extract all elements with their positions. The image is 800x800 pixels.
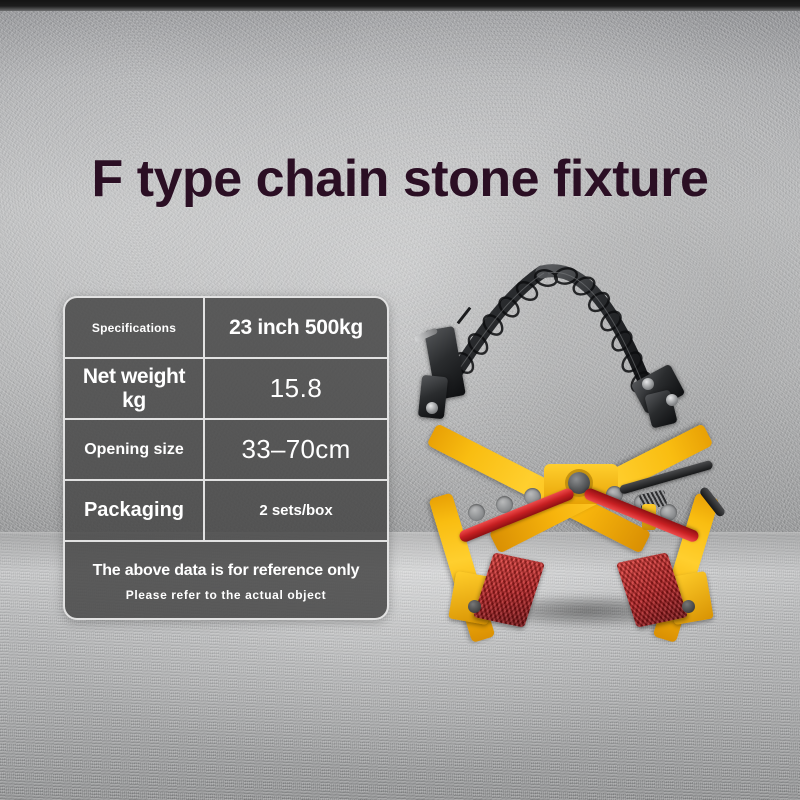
table-row: Net weight kg 15.8 [65,359,387,420]
table-row: Packaging 2 sets/box [65,481,387,542]
disclaimer-secondary: Please refer to the actual object [126,588,327,602]
row-value: 23 inch 500kg [229,316,363,340]
row-value: 33–70cm [241,434,350,465]
row-label: Packaging [84,499,184,522]
row-label-cell: Net weight kg [65,359,205,418]
row-value: 15.8 [270,373,323,404]
row-label-cell: Opening size [65,420,205,479]
row-value-cell: 23 inch 500kg [205,298,387,357]
row-label-cell: Packaging [65,481,205,540]
row-value-cell: 2 sets/box [205,481,387,540]
row-label: Opening size [84,441,184,459]
grip-pad-bolt-right [682,600,695,613]
row-value-cell: 33–70cm [205,420,387,479]
page-title: F type chain stone fixture [0,149,800,209]
specification-table: Specifications 23 inch 500kg Net weight … [63,296,389,620]
arm-adjustment-hole [468,504,485,521]
top-dark-band [0,0,800,11]
table-row: Opening size 33–70cm [65,420,387,481]
row-label-cell: Specifications [65,298,205,357]
grip-pad-bolt-left [468,600,481,613]
product-photo [408,236,754,686]
chain-connector-left-pin [426,402,438,414]
product-image-canvas: F type chain stone fixture [0,0,800,800]
table-disclaimer: The above data is for reference only Ple… [65,542,387,620]
disclaimer-primary: The above data is for reference only [93,562,360,580]
chain-connector-right-pin [642,378,654,390]
row-value: 2 sets/box [259,502,332,519]
row-label: Net weight kg [69,365,199,413]
row-value-cell: 15.8 [205,359,387,418]
table-row: Specifications 23 inch 500kg [65,298,387,359]
chain-connector-right-pin-lower [666,394,678,406]
row-label: Specifications [92,321,176,335]
